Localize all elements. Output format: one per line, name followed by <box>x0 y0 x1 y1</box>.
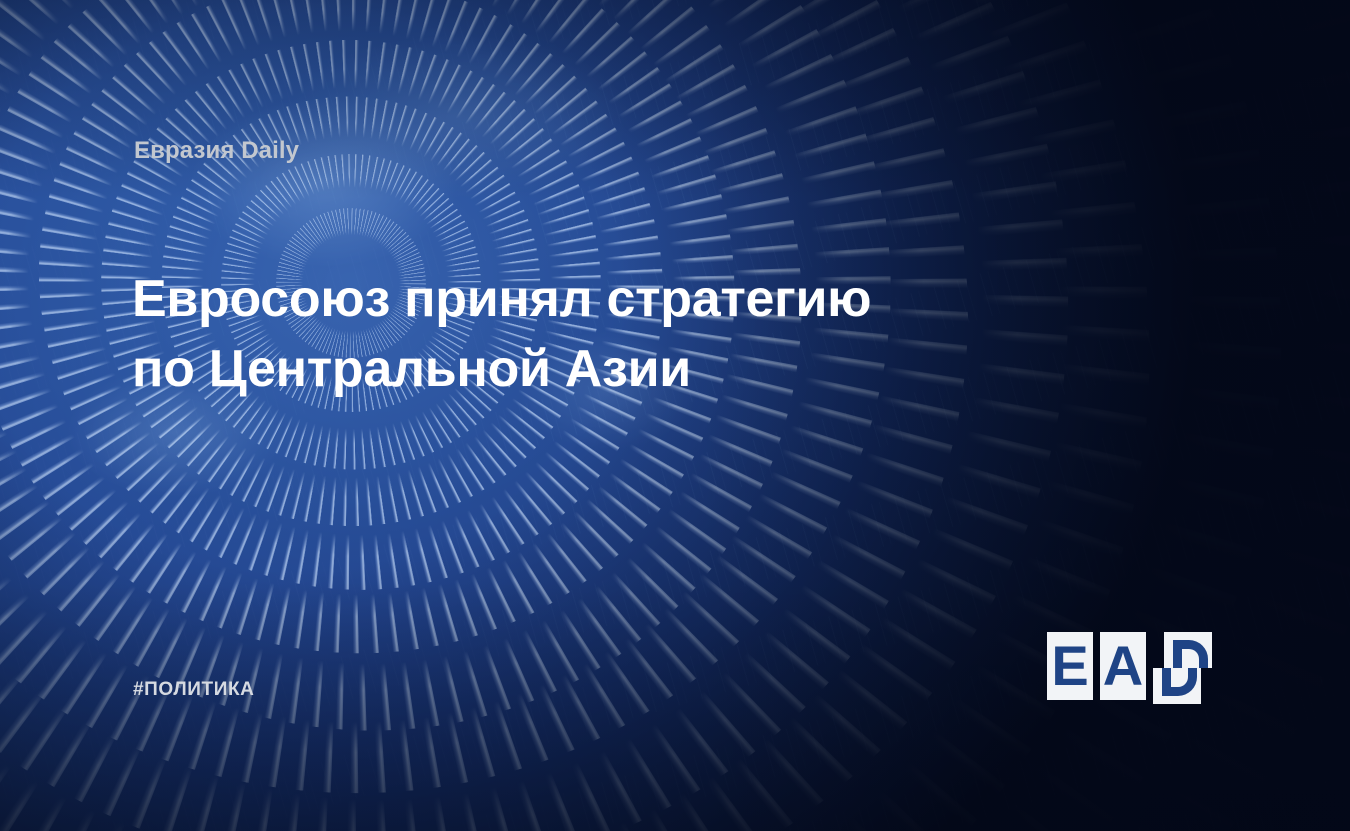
card-content: Евразия Daily Евросоюз принял стратегию … <box>0 0 1350 831</box>
logo-tile-d-top <box>1164 628 1213 668</box>
headline-line-1: Евросоюз принял стратегию <box>132 264 1012 334</box>
page-title: Евросоюз принял стратегию по Центральной… <box>132 264 1012 404</box>
news-share-card: Евразия Daily Евросоюз принял стратегию … <box>0 0 1350 831</box>
logo-letter-a: A <box>1100 632 1146 700</box>
brand-name: Евразия Daily <box>134 137 299 165</box>
ead-logo[interactable]: E A <box>1047 632 1222 702</box>
logo-letter-e: E <box>1047 632 1093 700</box>
logo-letter-d <box>1153 628 1213 708</box>
logo-tile-d-bottom <box>1153 668 1213 708</box>
headline-line-2: по Центральной Азии <box>132 334 1012 404</box>
category-hashtag[interactable]: #ПОЛИТИКА <box>133 679 255 701</box>
